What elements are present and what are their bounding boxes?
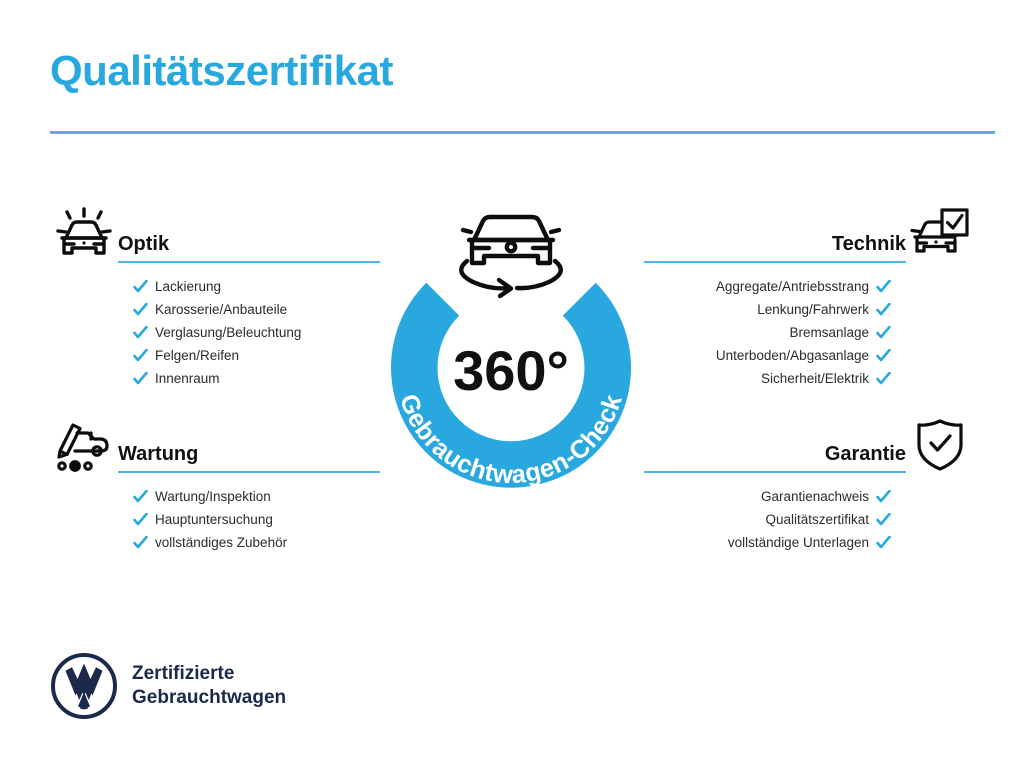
check-icon [133, 372, 148, 386]
check-icon [876, 280, 891, 294]
section-wartung: Wartung Wartung/Inspektion Hauptuntersuc… [50, 415, 380, 554]
list-item: Felgen/Reifen [133, 344, 380, 367]
list-item-label: Sicherheit/Elektrik [761, 372, 869, 386]
list-item-label: Aggregate/Antriebsstrang [716, 280, 869, 294]
check-icon [876, 372, 891, 386]
check-icon [876, 349, 891, 363]
check-icon [876, 490, 891, 504]
section-garantie: Garantie Garantienachweis Qualitätszerti… [644, 415, 974, 554]
section-title-optik: Optik [118, 233, 380, 261]
list-item-label: Verglasung/Beleuchtung [155, 326, 301, 340]
list-item: Verglasung/Beleuchtung [133, 321, 380, 344]
shield-check-icon [906, 415, 974, 475]
vw-logo-icon [50, 652, 118, 720]
list-item: Garantienachweis [644, 485, 891, 508]
list-item: Innenraum [133, 367, 380, 390]
list-item-label: Unterboden/Abgasanlage [716, 349, 869, 363]
vw-brand-line1: Zertifizierte [132, 662, 286, 686]
list-item: Unterboden/Abgasanlage [644, 344, 891, 367]
list-item: Hauptuntersuchung [133, 508, 380, 531]
list-item-label: Bremsanlage [789, 326, 869, 340]
check-icon [133, 490, 148, 504]
car-rotate-360-icon [461, 217, 561, 296]
list-item: Lackierung [133, 275, 380, 298]
section-underline [118, 261, 380, 263]
list-item-label: Qualitätszertifikat [765, 513, 869, 527]
list-item: Qualitätszertifikat [644, 508, 891, 531]
checklist-wartung: Wartung/Inspektion Hauptuntersuchung vol… [50, 485, 380, 554]
check-icon [876, 303, 891, 317]
title-divider [50, 131, 995, 134]
section-underline [644, 261, 906, 263]
list-item-label: Hauptuntersuchung [155, 513, 273, 527]
list-item-label: Innenraum [155, 372, 220, 386]
list-item-label: Lenkung/Fahrwerk [757, 303, 869, 317]
check-icon [133, 280, 148, 294]
section-optik: Optik Lackierung Karosserie/Anbauteile V… [50, 205, 380, 390]
page-title: Qualitätszertifikat [50, 50, 393, 92]
check-icon [133, 303, 148, 317]
list-item: Bremsanlage [644, 321, 891, 344]
section-title-wartung: Wartung [118, 443, 380, 471]
badge-center-label: 360° [453, 339, 569, 402]
list-item: Aggregate/Antriebsstrang [644, 275, 891, 298]
list-item-label: Wartung/Inspektion [155, 490, 271, 504]
checklist-garantie: Garantienachweis Qualitätszertifikat vol… [644, 485, 974, 554]
section-title-technik: Technik [644, 233, 906, 261]
vw-brand-text: Zertifizierte Gebrauchtwagen [132, 662, 286, 711]
list-item-label: Lackierung [155, 280, 221, 294]
check-icon [876, 513, 891, 527]
check-icon [133, 513, 148, 527]
list-item-label: Karosserie/Anbauteile [155, 303, 287, 317]
list-item: vollständiges Zubehör [133, 531, 380, 554]
check-icon [133, 536, 148, 550]
list-item-label: vollständige Unterlagen [728, 536, 869, 550]
list-item: Wartung/Inspektion [133, 485, 380, 508]
list-item: vollständige Unterlagen [644, 531, 891, 554]
section-underline [644, 471, 906, 473]
checklist-optik: Lackierung Karosserie/Anbauteile Verglas… [50, 275, 380, 390]
list-item: Karosserie/Anbauteile [133, 298, 380, 321]
car-checkbox-icon [906, 205, 974, 265]
check-icon [133, 349, 148, 363]
badge-360-gebrauchtwagen-check: Gebrauchtwagen-Check 360° [378, 196, 644, 496]
check-icon [876, 326, 891, 340]
check-icon [133, 326, 148, 340]
section-technik: Technik Aggregate/Antriebsstrang Lenkung… [644, 205, 974, 390]
check-icon [876, 536, 891, 550]
section-title-garantie: Garantie [644, 443, 906, 471]
list-item-label: Felgen/Reifen [155, 349, 239, 363]
car-front-shine-icon [50, 205, 118, 265]
list-item-label: vollständiges Zubehör [155, 536, 287, 550]
list-item-label: Garantienachweis [761, 490, 869, 504]
list-item: Lenkung/Fahrwerk [644, 298, 891, 321]
checklist-technik: Aggregate/Antriebsstrang Lenkung/Fahrwer… [644, 275, 974, 390]
vw-brand-line2: Gebrauchtwagen [132, 686, 286, 710]
vw-brand-block: Zertifizierte Gebrauchtwagen [50, 652, 286, 720]
pen-car-service-icon [50, 415, 118, 475]
section-underline [118, 471, 380, 473]
list-item: Sicherheit/Elektrik [644, 367, 891, 390]
